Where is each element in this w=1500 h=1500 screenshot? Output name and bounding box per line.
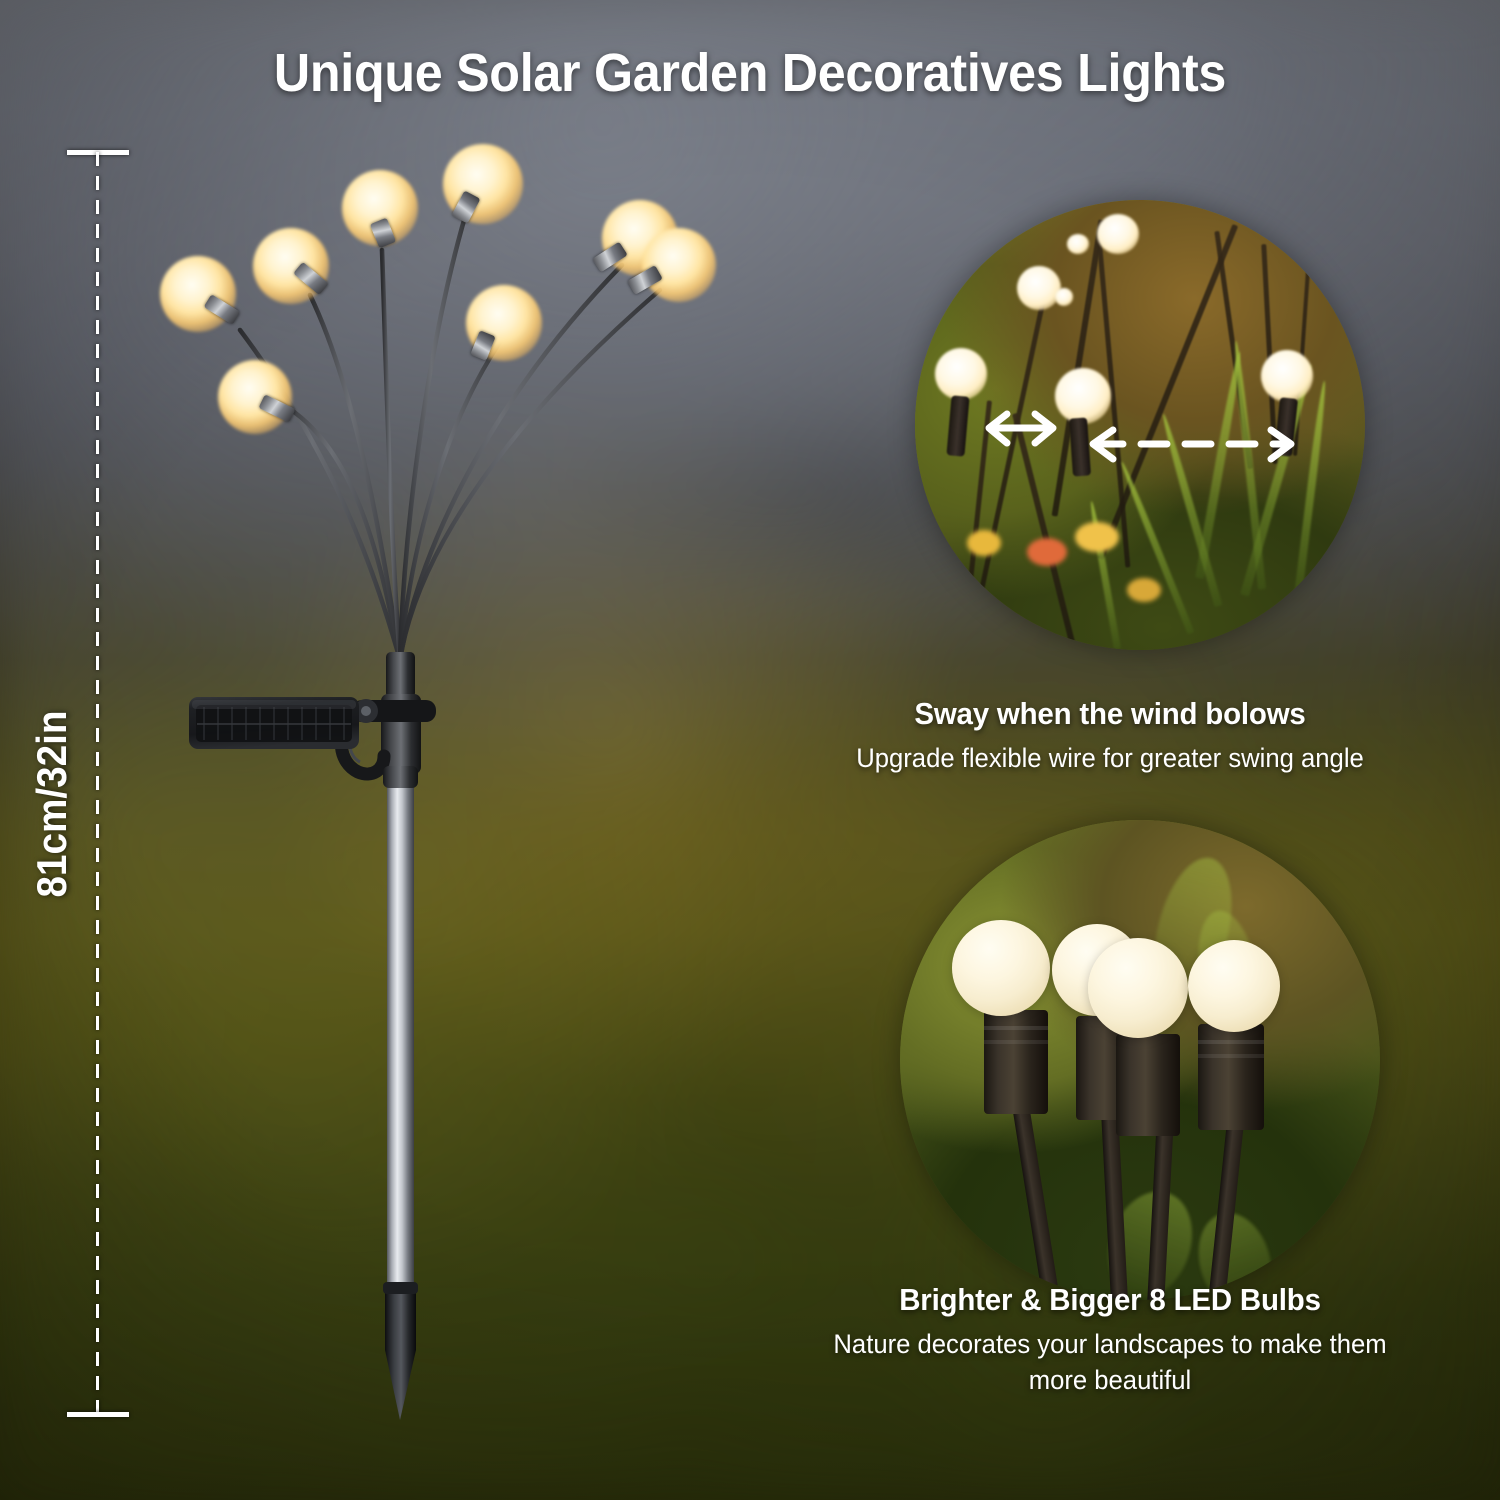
stake-top-collar [383,766,418,788]
caption-bulbs: Brighter & Bigger 8 LED Bulbs Nature dec… [790,1282,1430,1398]
socket-rib [984,1040,1048,1044]
feature-photo-bulbs [900,820,1380,1300]
product-illustration [0,0,760,1500]
solar-panel [189,697,359,749]
caption-sway-heading: Sway when the wind bolows [806,696,1414,732]
led-bulb [160,256,236,332]
caption-sway: Sway when the wind bolows Upgrade flexib… [790,696,1430,776]
feature-photo-sway [915,200,1365,650]
caption-bulbs-subtext: Nature decorates your landscapes to make… [806,1326,1414,1398]
wire-ferrule [386,652,415,698]
caption-sway-subtext: Upgrade flexible wire for greater swing … [806,740,1414,776]
stake-tip [385,1286,416,1420]
socket-rib [1198,1040,1264,1044]
sway-arrow-annotations [915,200,1365,650]
caption-bulbs-heading: Brighter & Bigger 8 LED Bulbs [806,1282,1414,1318]
socket-rib [984,1026,1048,1030]
led-bulb [218,360,292,434]
socket-rib [1198,1054,1264,1058]
bulb-socket [1116,1034,1180,1136]
closeup-led-bulb [1188,940,1280,1032]
closeup-led-bulb [1088,938,1188,1038]
metal-stake [387,770,414,1290]
bulbs-photo [900,820,1380,1300]
closeup-led-bulb [952,920,1050,1016]
product-infographic: Unique Solar Garden Decoratives Lights 8… [0,0,1500,1500]
sway-photo [915,200,1365,650]
